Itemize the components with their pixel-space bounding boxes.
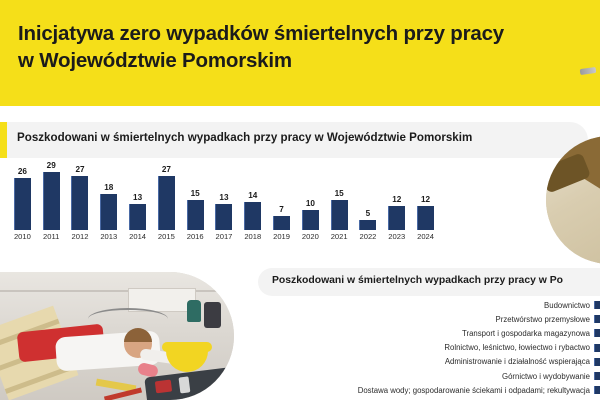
chart1-bar-group: 29 xyxy=(37,160,66,230)
chart1-bar-value: 7 xyxy=(279,206,284,214)
chart1-bar-group: 27 xyxy=(66,160,95,230)
chart1-plot-area: 2629271813271513147101551212 xyxy=(8,160,440,230)
chart1-bar-group: 12 xyxy=(382,160,411,230)
chart1-bar-value: 10 xyxy=(306,200,315,208)
chart1-bar-value: 29 xyxy=(47,162,56,170)
chart1-x-tick: 2023 xyxy=(382,232,411,241)
chart2-title-card: Poszkodowani w śmiertelnych wypadkach pr… xyxy=(258,268,600,296)
chart1-bar-value: 26 xyxy=(18,168,27,176)
chart1-bar-value: 27 xyxy=(75,166,84,174)
photo-wall-line xyxy=(0,290,234,292)
chart1-x-tick: 2012 xyxy=(66,232,95,241)
chart1-bar-group: 15 xyxy=(181,160,210,230)
chart2-category-label: Administrowanie i działalność wspierając… xyxy=(445,357,594,366)
chart2-category-label: Transport i gospodarka magazynowa xyxy=(462,329,594,338)
chart2-bar-row: Rolnictwo, leśnictwo, łowiectwo i rybact… xyxy=(300,341,600,355)
page-title: Inicjatywa zero wypadków śmiertelnych pr… xyxy=(18,21,584,74)
chart1-bar-group: 13 xyxy=(123,160,152,230)
chart1-bar xyxy=(331,200,348,230)
chart1-bar-group: 18 xyxy=(94,160,123,230)
chart1-bar-chart: 2629271813271513147101551212 20102011201… xyxy=(8,160,440,248)
chart1-bar-value: 14 xyxy=(248,192,257,200)
chart2-bar xyxy=(594,386,600,394)
chart1-x-tick: 2014 xyxy=(123,232,152,241)
chart1-bar-value: 15 xyxy=(335,190,344,198)
chart1-bar xyxy=(129,204,146,230)
header-banner: Inicjatywa zero wypadków śmiertelnych pr… xyxy=(0,0,600,106)
chart1-bar-value: 18 xyxy=(104,184,113,192)
chart1-bar xyxy=(388,206,405,230)
chart2-bar xyxy=(594,358,600,366)
chart1-bar-value: 27 xyxy=(162,166,171,174)
chart2-bar-row: Transport i gospodarka magazynowa xyxy=(300,326,600,340)
chart1-bar-value: 5 xyxy=(366,210,371,218)
chart2-bar xyxy=(594,344,600,352)
chart2-bar-row: Budownictwo xyxy=(300,298,600,312)
chart2-bar-row: Administrowanie i działalność wspierając… xyxy=(300,355,600,369)
chart1-x-tick: 2024 xyxy=(411,232,440,241)
chart1-x-tick: 2020 xyxy=(296,232,325,241)
chart1-bar-group: 13 xyxy=(210,160,239,230)
chart2-bar-row: Dostawa wody; gospodarowanie ściekami i … xyxy=(300,383,600,397)
chart1-x-tick: 2018 xyxy=(238,232,267,241)
chart1-title-card: Poszkodowani w śmiertelnych wypadkach pr… xyxy=(0,122,588,158)
chart1-bar xyxy=(71,176,88,230)
chart1-bar-group: 10 xyxy=(296,160,325,230)
chart1-bar-group: 12 xyxy=(411,160,440,230)
photo-boot-dark xyxy=(204,302,221,328)
chart2-category-label: Budownictwo xyxy=(544,301,594,310)
chart1-x-tick: 2013 xyxy=(94,232,123,241)
slide-canvas: Inicjatywa zero wypadków śmiertelnych pr… xyxy=(0,0,600,400)
chart1-bar xyxy=(417,206,434,230)
chart1-bar xyxy=(215,204,232,230)
chart1-bar-group: 5 xyxy=(354,160,383,230)
pin-icon xyxy=(580,67,597,75)
chart2-bar-row: Przetwórstwo przemysłowe xyxy=(300,312,600,326)
chart1-x-tick: 2019 xyxy=(267,232,296,241)
accent-bar xyxy=(0,122,7,158)
chart1-bar xyxy=(43,172,60,230)
chart2-bar xyxy=(594,372,600,380)
chart1-bar-value: 12 xyxy=(392,196,401,204)
chart2-category-label: Górnictwo i wydobywanie xyxy=(502,372,594,381)
chart1-x-tick: 2015 xyxy=(152,232,181,241)
chart1-bar-group: 7 xyxy=(267,160,296,230)
photo-boot-green xyxy=(187,300,201,322)
chart1-bar xyxy=(359,220,376,230)
chart1-bar xyxy=(273,216,290,230)
chart1-bar-value: 12 xyxy=(421,196,430,204)
chart1-bar-value: 13 xyxy=(133,194,142,202)
chart1-bar-group: 15 xyxy=(325,160,354,230)
chart2-bar xyxy=(594,329,600,337)
chart1-bar-group: 26 xyxy=(8,160,37,230)
chart2-bar-row: Górnictwo i wydobywanie xyxy=(300,369,600,383)
chart1-bar-group: 27 xyxy=(152,160,181,230)
chart1-x-tick: 2011 xyxy=(37,232,66,241)
chart1-x-tick: 2022 xyxy=(354,232,383,241)
chart1-bar xyxy=(187,200,204,230)
chart1-bar xyxy=(14,178,31,230)
chart2-bar xyxy=(594,315,600,323)
chart2-category-label: Przetwórstwo przemysłowe xyxy=(496,315,594,324)
chart1-bar-value: 13 xyxy=(219,194,228,202)
chart1-title: Poszkodowani w śmiertelnych wypadkach pr… xyxy=(17,131,472,144)
chart1-bar xyxy=(302,210,319,230)
chart2-title: Poszkodowani w śmiertelnych wypadkach pr… xyxy=(272,275,563,286)
chart2-category-label: Dostawa wody; gospodarowanie ściekami i … xyxy=(358,386,594,395)
chart1-x-tick: 2010 xyxy=(8,232,37,241)
chart1-bar-value: 15 xyxy=(191,190,200,198)
chart2-bar xyxy=(594,301,600,309)
chart1-bar-group: 14 xyxy=(238,160,267,230)
chart2-bar-chart: BudownictwoPrzetwórstwo przemysłoweTrans… xyxy=(300,298,600,400)
chart2-category-label: Rolnictwo, leśnictwo, łowiectwo i rybact… xyxy=(444,343,594,352)
chart1-x-tick: 2016 xyxy=(181,232,210,241)
chart1-x-tick: 2017 xyxy=(210,232,239,241)
chart1-x-axis: 2010201120122013201420152016201720182019… xyxy=(8,232,440,248)
chart1-bar xyxy=(100,194,117,230)
worker-accident-photo xyxy=(0,272,234,400)
chart1-bar xyxy=(244,202,261,230)
chart1-x-tick: 2021 xyxy=(325,232,354,241)
chart1-bar xyxy=(158,176,175,230)
circular-photo xyxy=(546,136,600,264)
